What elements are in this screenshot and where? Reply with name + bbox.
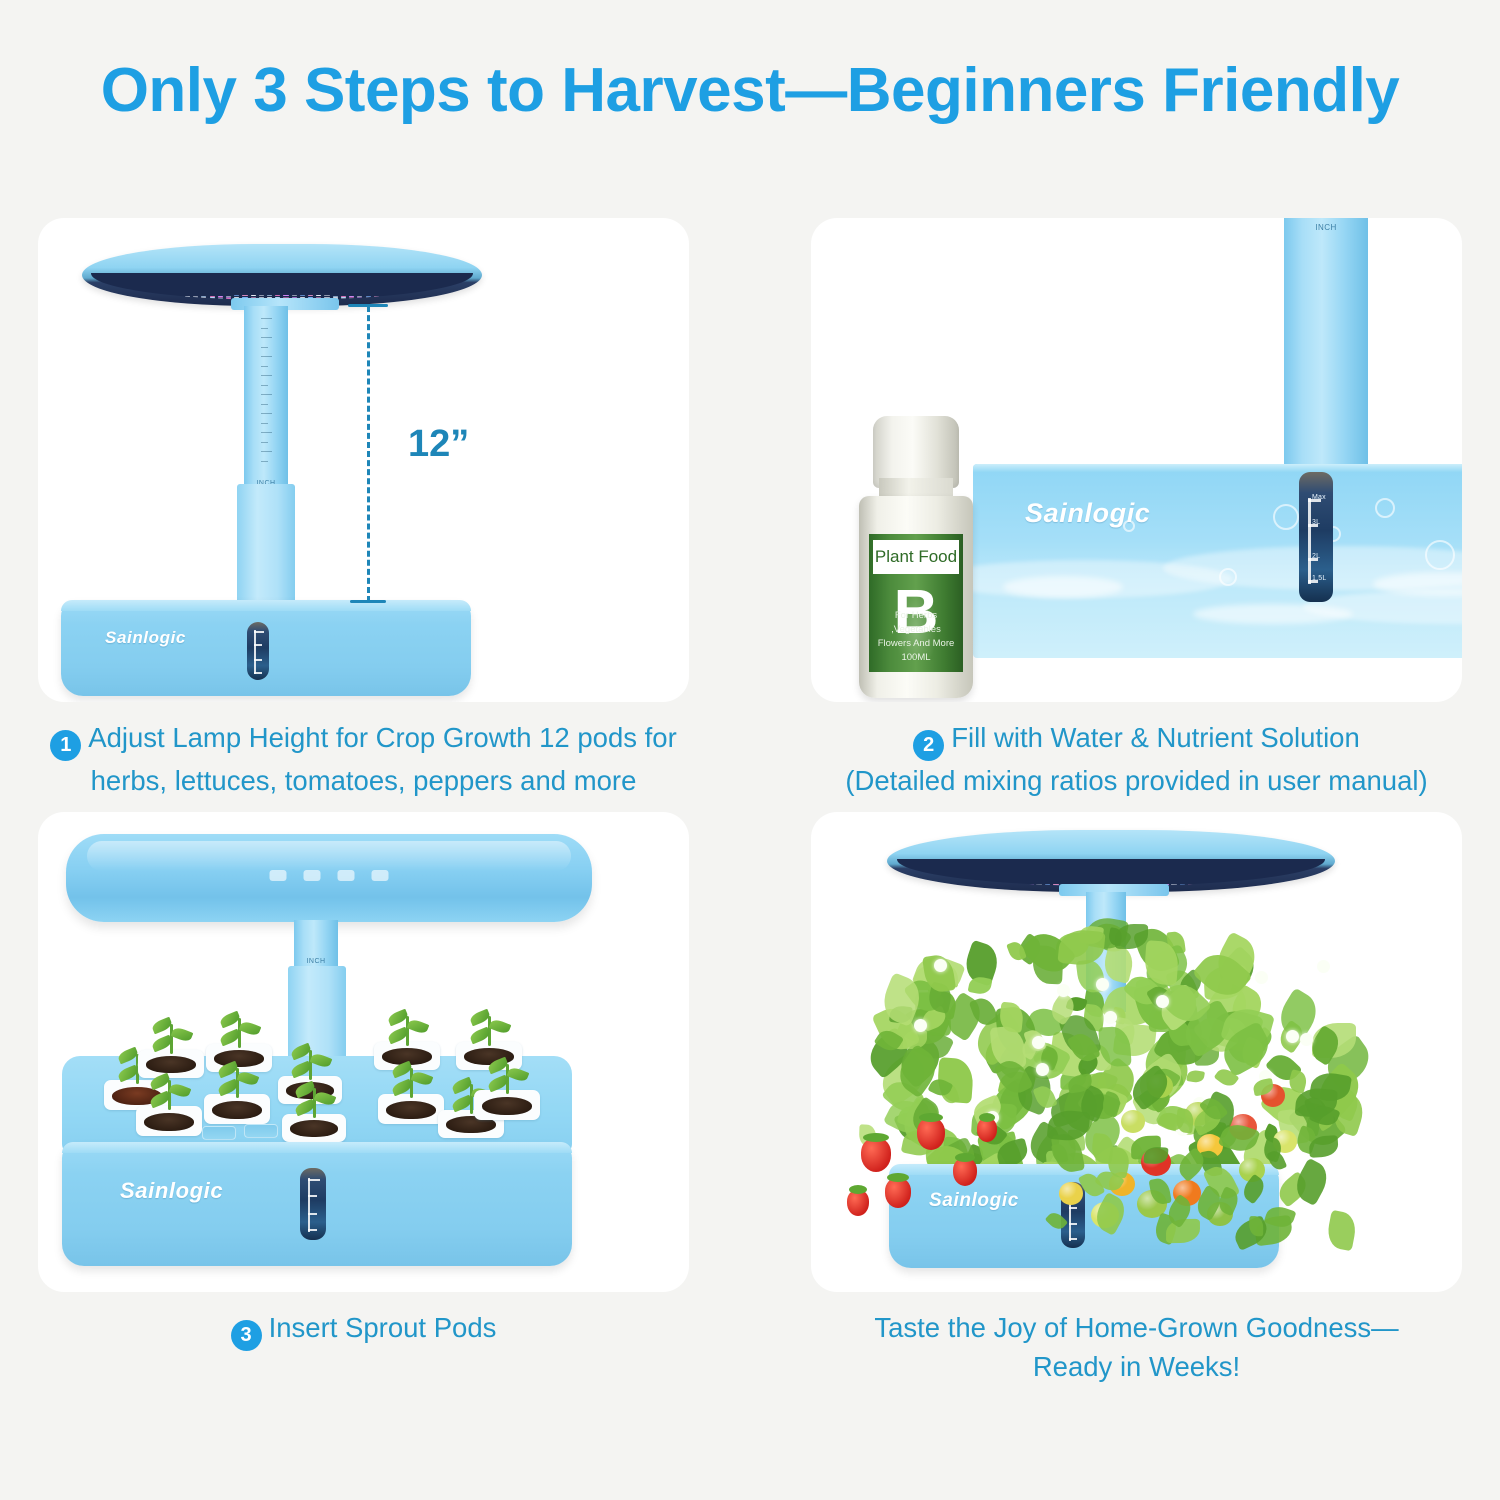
ruler-tick (261, 442, 268, 443)
pod-soil (144, 1113, 194, 1131)
gauge-tick-max (254, 631, 264, 633)
caption-text-4a: Taste the Joy of Home-Grown Goodness— (791, 1308, 1482, 1347)
led-column (390, 297, 395, 300)
led-dot (259, 295, 264, 296)
water-tank-base: Sainlogic (62, 1142, 572, 1266)
led-column (439, 298, 444, 300)
led-dot (160, 298, 165, 299)
strawberry-calyx (979, 1113, 995, 1122)
panel-1-caption: 1Adjust Lamp Height for Crop Growth 12 p… (0, 702, 727, 800)
brand-logo: Sainlogic (105, 628, 186, 648)
tank-top-edge (973, 464, 1462, 472)
led-column (357, 296, 362, 300)
water-tank-cutaway: Sainlogic (973, 464, 1462, 658)
white-flower (1096, 978, 1109, 991)
gauge-tick-15l (254, 672, 262, 674)
led-column (119, 298, 124, 300)
foliage-leaf (1101, 1091, 1124, 1118)
panel-adjust-lamp-height: INCH Sainlogic (0, 180, 727, 800)
water-bubble (1375, 498, 1395, 518)
drain-slot (244, 1124, 278, 1138)
led-array (897, 859, 1325, 886)
panel-2-caption: 2Fill with Water & Nutrient Solution (De… (773, 702, 1500, 800)
caption-line-1: 1Adjust Lamp Height for Crop Growth 12 p… (18, 718, 709, 761)
sprout-pod[interactable] (204, 1094, 270, 1124)
led-column (1036, 884, 1042, 886)
bottle-label: Plant Food B For Herbs ,Vegetables Flowe… (869, 534, 963, 672)
led-column (407, 297, 412, 300)
led-column (986, 885, 992, 886)
ruler-tick (261, 318, 272, 319)
dimension-cap-bottom (350, 600, 386, 603)
strawberry (885, 1178, 911, 1208)
water-bubble (1273, 504, 1299, 530)
led-lamp-head (66, 834, 592, 922)
gauge-label-max: Max (1312, 494, 1326, 501)
led-column (1003, 885, 1009, 886)
led-column (448, 299, 453, 300)
panel-3-image-card: INCH Sainlogic (38, 812, 689, 1292)
led-column (128, 298, 133, 300)
cherry-tomato (1059, 1182, 1083, 1205)
panel-fill-water-nutrient: INCH Sainlogic (773, 180, 1500, 800)
led-dot (267, 295, 272, 296)
led-column (1205, 885, 1211, 886)
water-bubble (1123, 520, 1135, 532)
page-header: Only 3 Steps to Harvest—Beginners Friend… (0, 0, 1500, 180)
harvest-illustration: Sainlogic (811, 812, 1462, 1292)
pole-inch-label: INCH (1306, 223, 1346, 232)
ruler-tick (261, 328, 268, 329)
strawberry (861, 1138, 891, 1172)
gauge-tick-max (308, 1179, 320, 1181)
led-column (1214, 885, 1220, 886)
ruler-tick (261, 337, 272, 338)
pod-soil (212, 1101, 262, 1119)
bottle-body: Plant Food B For Herbs ,Vegetables Flowe… (859, 496, 973, 698)
sprout-pod[interactable] (206, 1044, 272, 1072)
led-dot (398, 298, 403, 299)
white-flower (1300, 1033, 1313, 1046)
led-column (152, 297, 157, 300)
led-column (1028, 884, 1034, 886)
caption-text-2a: Fill with Water & Nutrient Solution (951, 722, 1360, 753)
strawberry-calyx (863, 1133, 889, 1142)
led-column (431, 298, 436, 300)
led-column (1222, 885, 1228, 886)
telescoping-pole-upper (1284, 218, 1368, 468)
led-column (103, 299, 108, 300)
ruler-tick (261, 413, 272, 414)
led-column (398, 297, 403, 300)
led-column (456, 299, 461, 300)
page-title: Only 3 Steps to Harvest—Beginners Friend… (101, 55, 1400, 126)
water-level-gauge: Max 3L 2L 1.5L (1299, 472, 1333, 602)
gauge-label-3l: 3L (1312, 519, 1320, 526)
water-level-gauge (247, 622, 269, 680)
panel-harvest-result: Sainlogic Taste the Joy of Home-Grown Go… (773, 800, 1500, 1420)
panel-4-caption: Taste the Joy of Home-Grown Goodness— Re… (773, 1292, 1500, 1386)
gauge-tick-2l (254, 659, 262, 661)
bottle-label-sub: For Herbs ,Vegetables Flowers And More 1… (869, 609, 963, 665)
led-dot (300, 295, 305, 296)
white-flower (1317, 960, 1330, 973)
water-bubble (1425, 540, 1455, 570)
led-column (201, 296, 206, 300)
bottle-sub-line-2: Flowers And More (878, 638, 955, 649)
pod-soil (482, 1097, 532, 1115)
foliage-leaf (1186, 1069, 1205, 1084)
lamp-control-button[interactable] (304, 870, 321, 881)
water-foam (1003, 576, 1123, 598)
gauge-stem (1308, 498, 1311, 584)
caption-text-3a: Insert Sprout Pods (269, 1312, 497, 1343)
white-flower (1286, 1030, 1299, 1043)
sprout-pod[interactable] (282, 1114, 346, 1142)
ruler-tick (261, 375, 272, 376)
foliage-leaf (1090, 1133, 1114, 1164)
sprout-pods-illustration: INCH Sainlogic (38, 812, 689, 1292)
panel-1-image-card: INCH Sainlogic (38, 218, 689, 702)
pod-soil (146, 1056, 196, 1073)
water-level-gauge (300, 1168, 326, 1240)
led-column (1188, 884, 1194, 886)
white-flower (914, 1019, 927, 1032)
led-column (415, 297, 420, 299)
hydroponic-unit-illustration: INCH Sainlogic (38, 218, 689, 702)
caption-text-1a: Adjust Lamp Height for Crop Growth 12 po… (88, 722, 676, 753)
led-column (349, 296, 354, 300)
bottle-sub-line-1: For Herbs ,Vegetables (891, 610, 941, 635)
steps-grid: INCH Sainlogic (0, 180, 1500, 1500)
bottle-sub-line-3: 100ML (901, 652, 930, 663)
ruler-tick (261, 385, 268, 386)
foliage-leaf (1057, 928, 1106, 968)
led-lamp-head (82, 244, 482, 306)
led-column (464, 299, 469, 300)
water-tank-base: Sainlogic (61, 600, 471, 696)
pod-soil (290, 1120, 339, 1137)
ruler-tick (261, 404, 268, 405)
pod-soil (214, 1050, 264, 1067)
bottle-label-header: Plant Food (873, 540, 959, 574)
led-column (111, 299, 116, 300)
strawberry-calyx (887, 1173, 909, 1182)
led-column (341, 296, 346, 300)
water-foam (1193, 604, 1353, 624)
led-column (95, 299, 100, 300)
led-column (169, 297, 174, 300)
caption-text-2b: (Detailed mixing ratios provided in user… (791, 761, 1482, 800)
led-column (366, 296, 371, 300)
sprout-pod[interactable] (138, 1050, 204, 1078)
led-column (423, 298, 428, 300)
led-column (136, 298, 141, 300)
gauge-stem (254, 630, 256, 674)
pod-soil (386, 1101, 436, 1119)
ruler-tick (261, 423, 268, 424)
sprout-leaf (239, 1020, 262, 1038)
ruler-tick (261, 366, 268, 367)
foliage-leaf (1325, 1210, 1358, 1252)
led-column (193, 296, 198, 300)
led-dot (275, 295, 280, 296)
lamp-control-button[interactable] (372, 870, 389, 881)
strawberry (953, 1158, 977, 1186)
sprout-leaf (171, 1026, 194, 1044)
gauge-tick-2l (308, 1213, 317, 1215)
tank-lip (62, 1142, 572, 1153)
plant-food-bottle: Plant Food B For Herbs ,Vegetables Flowe… (859, 416, 973, 698)
step-badge-3: 3 (231, 1320, 262, 1351)
led-column (144, 297, 149, 299)
led-array (91, 273, 473, 300)
led-column (374, 296, 379, 299)
led-column (1053, 884, 1059, 886)
water-bubble (1219, 568, 1237, 586)
dimension-label: 12” (408, 423, 469, 466)
ruler-tick (261, 451, 272, 452)
lamp-control-button[interactable] (338, 870, 355, 881)
sprout-pod[interactable] (136, 1106, 202, 1136)
strawberry-calyx (955, 1153, 975, 1162)
led-lamp-head (887, 830, 1335, 892)
pole-inch-label: INCH (296, 958, 336, 965)
led-column (1045, 884, 1051, 886)
white-flower (1156, 995, 1169, 1008)
sprout-leaf (489, 1018, 512, 1036)
panel-4-image-card: Sainlogic (811, 812, 1462, 1292)
cherry-tomato (1121, 1110, 1145, 1133)
dimension-dashed-line (367, 306, 370, 602)
led-column (1230, 885, 1236, 886)
white-flower (934, 959, 947, 972)
panel-3-caption: 3Insert Sprout Pods (0, 1292, 727, 1351)
strawberry-calyx (849, 1185, 867, 1194)
ruler-tick (261, 394, 272, 395)
sprout-pod[interactable] (474, 1090, 540, 1120)
caption-line-1: 3Insert Sprout Pods (18, 1308, 709, 1351)
led-dot (283, 295, 288, 296)
step-badge-2: 2 (913, 730, 944, 761)
telescoping-pole-lower (237, 484, 295, 616)
foliage-leaf (1213, 1065, 1239, 1090)
lamp-control-buttons[interactable] (270, 870, 389, 881)
gauge-label-2l: 2L (1312, 553, 1320, 560)
height-dimension-annotation (338, 304, 398, 604)
led-column (177, 297, 182, 300)
led-column (1011, 885, 1017, 886)
led-column (994, 885, 1000, 886)
led-column (185, 296, 190, 299)
ruler-tick (261, 461, 268, 462)
gauge-tick-3l (254, 644, 262, 646)
brand-logo: Sainlogic (120, 1178, 223, 1204)
foliage-leaf (1046, 1109, 1090, 1142)
caption-text-4b: Ready in Weeks! (791, 1347, 1482, 1386)
foliage-leaf (1045, 1210, 1068, 1233)
led-column (218, 296, 223, 300)
step-badge-1: 1 (50, 730, 81, 761)
panel-2-image-card: INCH Sainlogic (811, 218, 1462, 702)
caption-line-1: 2Fill with Water & Nutrient Solution (791, 718, 1482, 761)
led-column (1197, 884, 1203, 885)
ruler-tick (261, 432, 272, 433)
fruit-overlay (841, 1062, 1361, 1262)
led-column (160, 297, 165, 300)
led-column (382, 297, 387, 300)
strawberry (917, 1118, 945, 1150)
strawberry-calyx (919, 1113, 943, 1122)
foliage-leaf (1092, 1192, 1131, 1235)
white-flower (1255, 971, 1268, 984)
led-column (1019, 884, 1025, 885)
led-column (1171, 884, 1177, 886)
led-dot (292, 295, 297, 296)
led-column (210, 296, 215, 300)
lamp-control-button[interactable] (270, 870, 287, 881)
caption-text-1b: herbs, lettuces, tomatoes, peppers and m… (18, 761, 709, 800)
gauge-tick-3l (308, 1195, 317, 1197)
sprout-leaf (407, 1018, 430, 1036)
tank-lip (61, 600, 471, 611)
pole-ruler-scale (261, 318, 272, 473)
led-column (1180, 884, 1186, 886)
tank-fill-illustration: INCH Sainlogic (811, 218, 1462, 702)
ruler-tick (261, 356, 272, 357)
sprout-pod[interactable] (378, 1094, 444, 1124)
gauge-label-15l: 1.5L (1312, 575, 1326, 582)
ruler-tick (261, 347, 268, 348)
gauge-tick-15l (308, 1229, 317, 1231)
gauge-stem (308, 1178, 310, 1232)
drain-slot (202, 1126, 236, 1140)
panel-insert-sprout-pods: INCH Sainlogic (0, 800, 727, 1420)
